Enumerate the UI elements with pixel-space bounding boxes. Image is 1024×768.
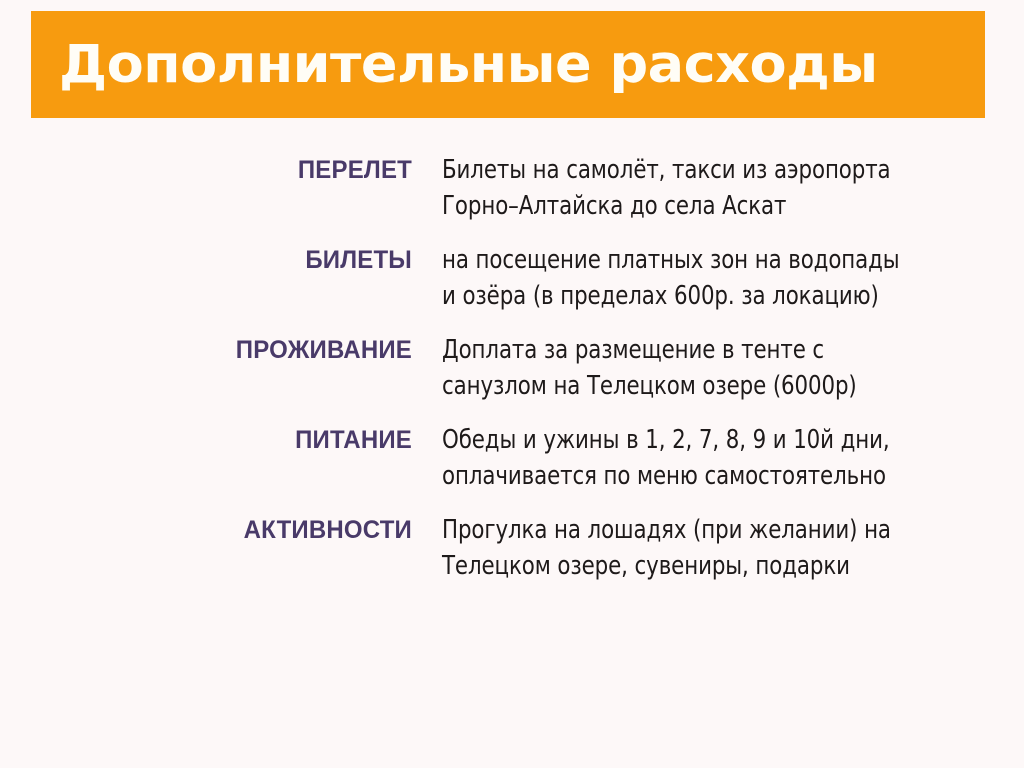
expense-description: на посещение платных зон на водопады и о… — [442, 242, 983, 314]
expense-description: Прогулка на лошадях (при желании) на Тел… — [442, 512, 983, 584]
description-line: оплачивается по меню самостоятельно — [442, 458, 983, 494]
list-item: АКТИВНОСТИ Прогулка на лошадях (при жела… — [0, 512, 1024, 584]
description-line: Доплата за размещение в тенте с — [442, 332, 983, 368]
expense-category-label: БИЛЕТЫ — [16, 242, 412, 278]
expense-category-label: ПЕРЕЛЕТ — [16, 152, 412, 188]
expense-category-label: ПИТАНИЕ — [16, 422, 412, 458]
expense-description: Обеды и ужины в 1, 2, 7, 8, 9 и 10й дни,… — [442, 422, 983, 494]
expense-list: ПЕРЕЛЕТ Билеты на самолёт, такси из аэро… — [0, 152, 1024, 602]
list-item: БИЛЕТЫ на посещение платных зон на водоп… — [0, 242, 1024, 314]
description-line: Билеты на самолёт, такси из аэропорта — [442, 152, 983, 188]
list-item: ПРОЖИВАНИЕ Доплата за размещение в тенте… — [0, 332, 1024, 404]
expense-category-label: АКТИВНОСТИ — [16, 512, 412, 548]
expense-category-label: ПРОЖИВАНИЕ — [16, 332, 412, 368]
expense-description: Билеты на самолёт, такси из аэропорта Го… — [442, 152, 983, 224]
slide-root: Дополнительные расходы ПЕРЕЛЕТ Билеты на… — [0, 0, 1024, 768]
expense-description: Доплата за размещение в тенте с санузлом… — [442, 332, 983, 404]
list-item: ПЕРЕЛЕТ Билеты на самолёт, такси из аэро… — [0, 152, 1024, 224]
description-line: Горно–Алтайска до села Аскат — [442, 188, 983, 224]
list-item: ПИТАНИЕ Обеды и ужины в 1, 2, 7, 8, 9 и … — [0, 422, 1024, 494]
description-line: санузлом на Телецком озере (6000р) — [442, 368, 983, 404]
description-line: Прогулка на лошадях (при желании) на — [442, 512, 983, 548]
title-banner: Дополнительные расходы — [31, 11, 985, 118]
description-line: Телецком озере, сувениры, подарки — [442, 548, 983, 584]
description-line: и озёра (в пределах 600р. за локацию) — [442, 278, 983, 314]
description-line: на посещение платных зон на водопады — [442, 242, 983, 278]
page-title: Дополнительные расходы — [59, 38, 878, 91]
description-line: Обеды и ужины в 1, 2, 7, 8, 9 и 10й дни, — [442, 422, 983, 458]
